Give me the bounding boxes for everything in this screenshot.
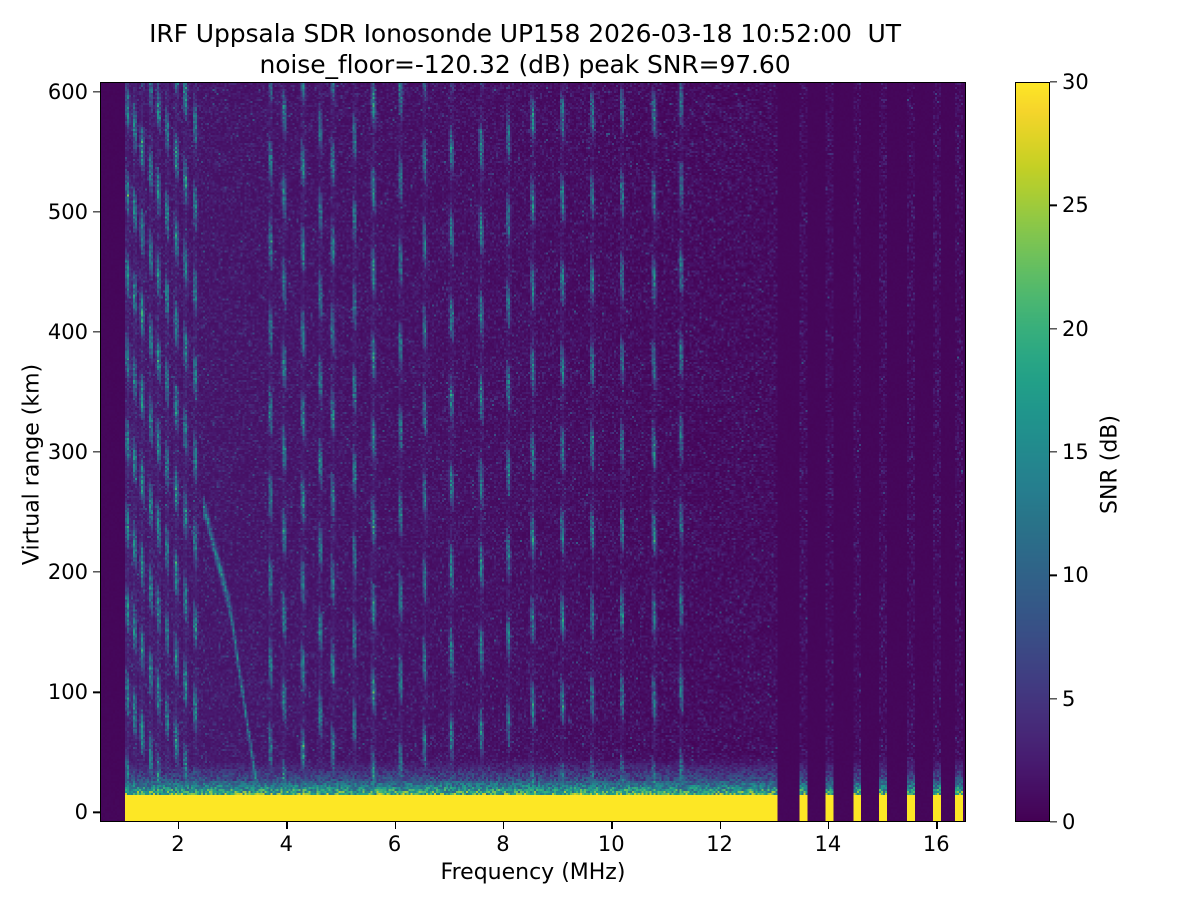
- colorbar-tick-label: 10: [1062, 563, 1089, 587]
- x-tick-label: 8: [463, 832, 543, 856]
- colorbar-tick-mark: [1050, 821, 1057, 822]
- y-tick-mark: [93, 91, 100, 92]
- y-tick-mark: [93, 211, 100, 212]
- ionogram-heatmap: [101, 83, 965, 821]
- colorbar[interactable]: [1015, 82, 1050, 822]
- x-tick-label: 14: [788, 832, 868, 856]
- title-line-2: noise_floor=-120.32 (dB) peak SNR=97.60: [0, 49, 1050, 80]
- y-tick-mark: [93, 812, 100, 813]
- y-tick-mark: [93, 451, 100, 452]
- x-tick-mark: [720, 822, 721, 829]
- colorbar-tick-mark: [1050, 451, 1057, 452]
- chart-title: IRF Uppsala SDR Ionosonde UP158 2026-03-…: [0, 18, 1050, 80]
- x-tick-mark: [178, 822, 179, 829]
- y-tick-label: 600: [8, 80, 88, 104]
- x-tick-mark: [395, 822, 396, 829]
- ionogram-figure: IRF Uppsala SDR Ionosonde UP158 2026-03-…: [0, 0, 1200, 900]
- colorbar-tick-label: 15: [1062, 440, 1089, 464]
- x-tick-label: 4: [246, 832, 326, 856]
- colorbar-tick-mark: [1050, 328, 1057, 329]
- colorbar-tick-mark: [1050, 698, 1057, 699]
- x-tick-mark: [286, 822, 287, 829]
- y-axis-label: Virtual range (km): [20, 185, 45, 745]
- colorbar-tick-label: 0: [1062, 810, 1075, 834]
- colorbar-tick-mark: [1050, 81, 1057, 82]
- x-tick-mark: [503, 822, 504, 829]
- x-tick-label: 12: [680, 832, 760, 856]
- title-line-1: IRF Uppsala SDR Ionosonde UP158 2026-03-…: [0, 18, 1050, 49]
- x-axis-label: Frequency (MHz): [100, 860, 966, 885]
- ionogram-plot-area[interactable]: [100, 82, 966, 822]
- colorbar-label: SNR (dB): [1098, 285, 1123, 645]
- colorbar-tick-mark: [1050, 575, 1057, 576]
- colorbar-gradient: [1016, 83, 1049, 821]
- colorbar-tick-label: 25: [1062, 193, 1089, 217]
- x-tick-label: 6: [355, 832, 435, 856]
- y-tick-mark: [93, 692, 100, 693]
- colorbar-tick-label: 5: [1062, 687, 1075, 711]
- x-tick-mark: [611, 822, 612, 829]
- y-tick-mark: [93, 571, 100, 572]
- x-tick-label: 16: [896, 832, 976, 856]
- x-tick-label: 10: [571, 832, 651, 856]
- x-tick-label: 2: [138, 832, 218, 856]
- x-tick-mark: [828, 822, 829, 829]
- y-tick-mark: [93, 331, 100, 332]
- y-tick-label: 0: [8, 800, 88, 824]
- x-tick-mark: [936, 822, 937, 829]
- colorbar-tick-label: 30: [1062, 70, 1089, 94]
- colorbar-tick-label: 20: [1062, 317, 1089, 341]
- colorbar-tick-mark: [1050, 205, 1057, 206]
